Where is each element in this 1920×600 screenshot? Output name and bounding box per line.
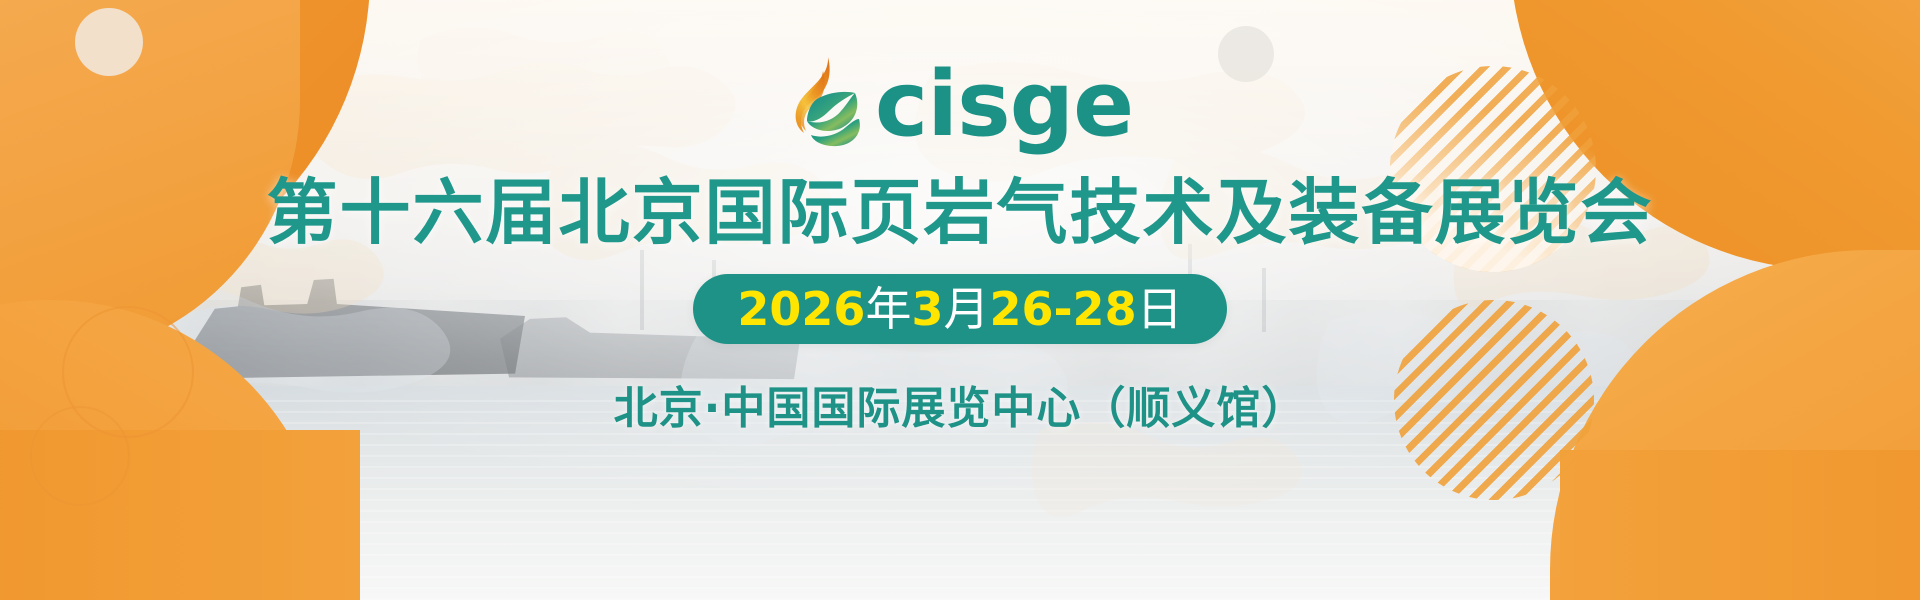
date-day-label: 日 <box>1137 282 1183 336</box>
date-year-label: 年 <box>865 282 911 336</box>
date-month: 3 <box>911 282 943 336</box>
exhibition-title: 第十六届北京国际页岩气技术及装备展览会 <box>266 177 1653 248</box>
event-date-badge: 2026年3月26-28日 <box>693 274 1226 344</box>
venue-text: 北京·中国国际展览中心（顺义馆） <box>614 372 1307 436</box>
cisge-wordmark: cisge <box>875 60 1133 150</box>
banner-content: cisge 第十六届北京国际页岩气技术及装备展览会 2026年3月26-28日 … <box>0 0 1920 600</box>
exhibition-banner: cisge 第十六届北京国际页岩气技术及装备展览会 2026年3月26-28日 … <box>0 0 1920 600</box>
cisge-flame-leaf-logo-icon <box>787 55 865 147</box>
date-year: 2026 <box>737 282 865 336</box>
date-month-label: 月 <box>943 282 989 336</box>
event-date-text: 2026年3月26-28日 <box>737 286 1182 332</box>
cisge-logo[interactable]: cisge <box>787 53 1133 149</box>
date-day-range: 26-28 <box>989 282 1136 336</box>
